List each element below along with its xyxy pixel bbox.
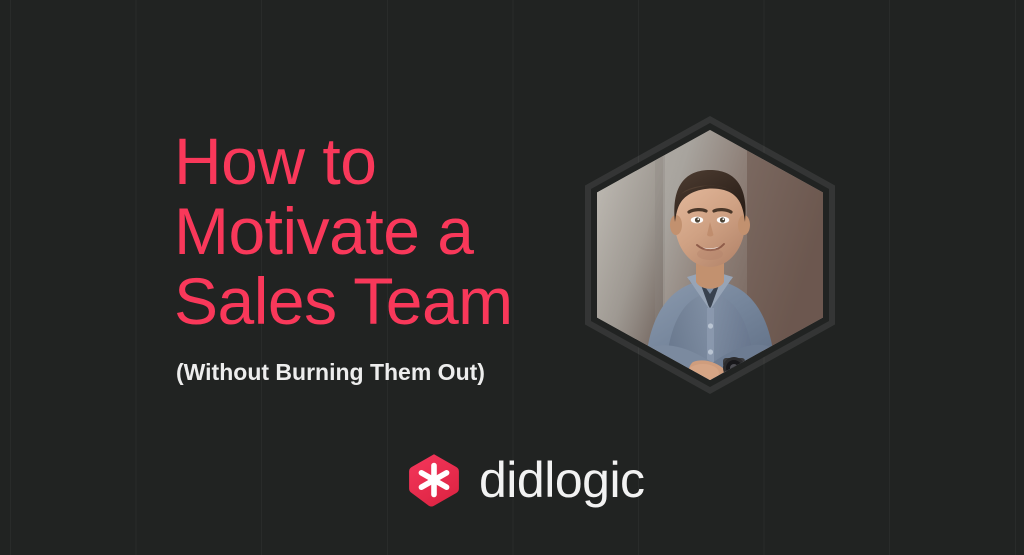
- subtitle: (Without Burning Them Out): [174, 336, 594, 386]
- promo-banner: How to Motivate a Sales Team (Without Bu…: [0, 0, 1024, 555]
- hexagon-asterisk-icon: [406, 452, 462, 508]
- headline-block: How to Motivate a Sales Team (Without Bu…: [174, 126, 594, 386]
- brand-wordmark: didlogic: [479, 455, 645, 505]
- brand-logo[interactable]: didlogic: [406, 452, 645, 508]
- page-title: How to Motivate a Sales Team: [174, 126, 594, 336]
- portrait-frame: [585, 116, 835, 394]
